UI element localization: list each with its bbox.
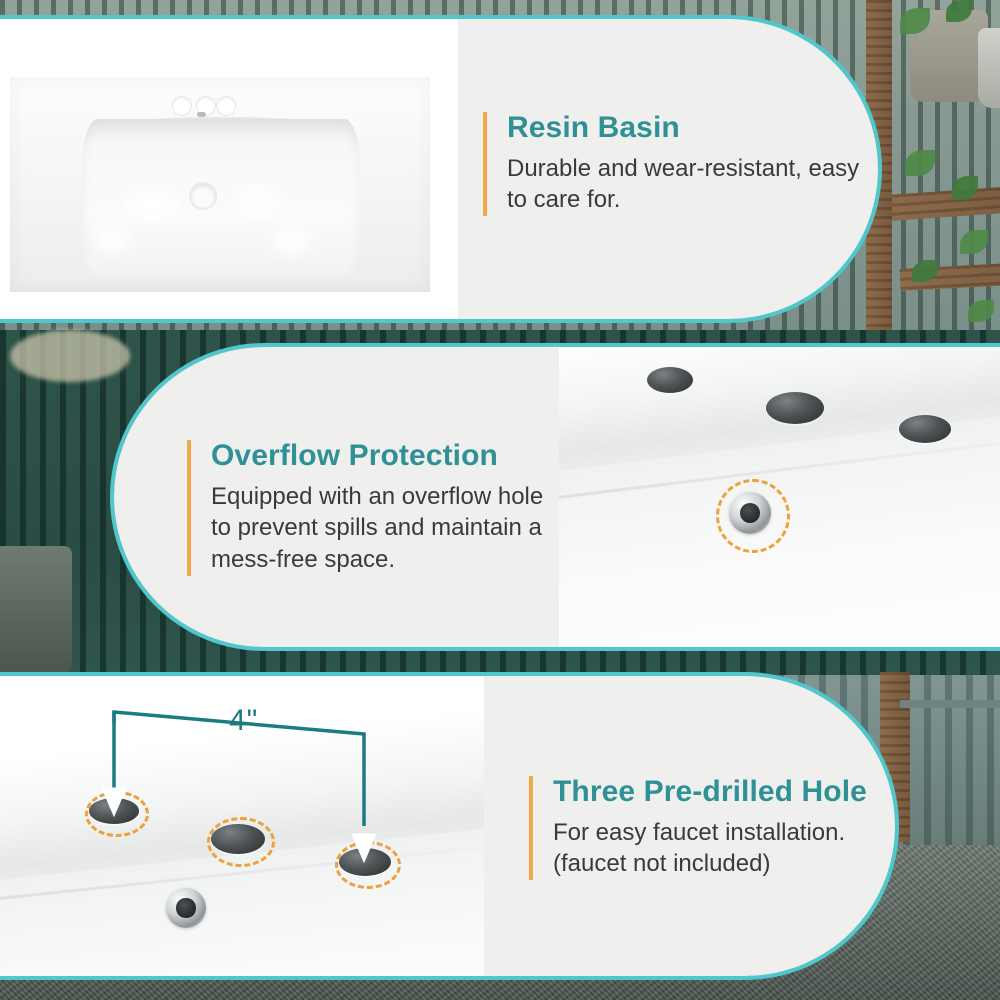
drain-hole-icon	[191, 184, 215, 208]
faucet-hole-left-icon	[173, 97, 191, 115]
feature-panel-overflow-protection: Overflow Protection Equipped with an ove…	[110, 343, 1000, 651]
faucet-hole-right-icon	[899, 415, 951, 443]
panel-2-heading: Overflow Protection	[211, 440, 559, 472]
stone-planter-left	[0, 546, 72, 676]
faucet-hole-left-icon	[647, 367, 693, 393]
panel-1-text-area: Resin Basin Durable and wear-resistant, …	[458, 19, 878, 319]
faucet-hole-center-icon	[766, 392, 824, 424]
sink-top-view-illustration	[10, 77, 430, 292]
panel-1-heading: Resin Basin	[507, 112, 878, 144]
feature-panel-resin-basin: Resin Basin Durable and wear-resistant, …	[0, 15, 882, 323]
sink-closeup-overflow-illustration	[559, 347, 1000, 647]
pre-drilled-hole-center-dashed-circle	[207, 817, 275, 867]
panel-2-text-area: Overflow Protection Equipped with an ove…	[114, 347, 559, 647]
panel-2-body: Equipped with an overflow hole to preven…	[211, 481, 559, 577]
panel-3-text-area: Three Pre-drilled Hole For easy faucet i…	[484, 676, 895, 976]
overflow-highlight-dashed-circle	[716, 479, 790, 553]
panel-3-text-block: Three Pre-drilled Hole For easy faucet i…	[529, 776, 867, 880]
overflow-hole-icon	[197, 112, 206, 117]
highlight-glow-3	[94, 225, 130, 253]
panel-2-text-block: Overflow Protection Equipped with an ove…	[187, 440, 559, 576]
panel-3-body-line-1: For easy faucet installation.	[553, 817, 867, 849]
pre-drilled-hole-right-dashed-circle	[335, 841, 401, 889]
faucet-hole-right-icon	[217, 97, 235, 115]
feature-panel-three-pre-drilled-hole: 4" Three Pre-drilled Hole For easy fauce…	[0, 672, 899, 980]
highlight-glow-2	[235, 185, 279, 217]
dried-flower-sprig	[10, 330, 130, 382]
highlight-glow-4	[272, 227, 310, 255]
sink-closeup-holes-illustration: 4"	[0, 676, 484, 976]
planter-pot-2	[978, 28, 1000, 108]
panel-3-image-area: 4"	[0, 676, 484, 976]
fence-rail-bottom	[900, 700, 1000, 708]
panel-1-text-block: Resin Basin Durable and wear-resistant, …	[483, 112, 878, 216]
panel-1-image-area	[0, 19, 458, 319]
panel-3-body-line-2: (faucet not included)	[553, 848, 867, 880]
overflow-hole-chrome-icon	[166, 888, 206, 928]
panel-1-body: Durable and wear-resistant, easy to care…	[507, 153, 878, 217]
sink-bowl	[82, 119, 360, 279]
highlight-glow-1	[128, 189, 176, 223]
panel-2-image-area	[559, 347, 1000, 647]
panel-3-heading: Three Pre-drilled Hole	[553, 776, 867, 808]
pre-drilled-hole-left-dashed-circle	[85, 791, 149, 837]
